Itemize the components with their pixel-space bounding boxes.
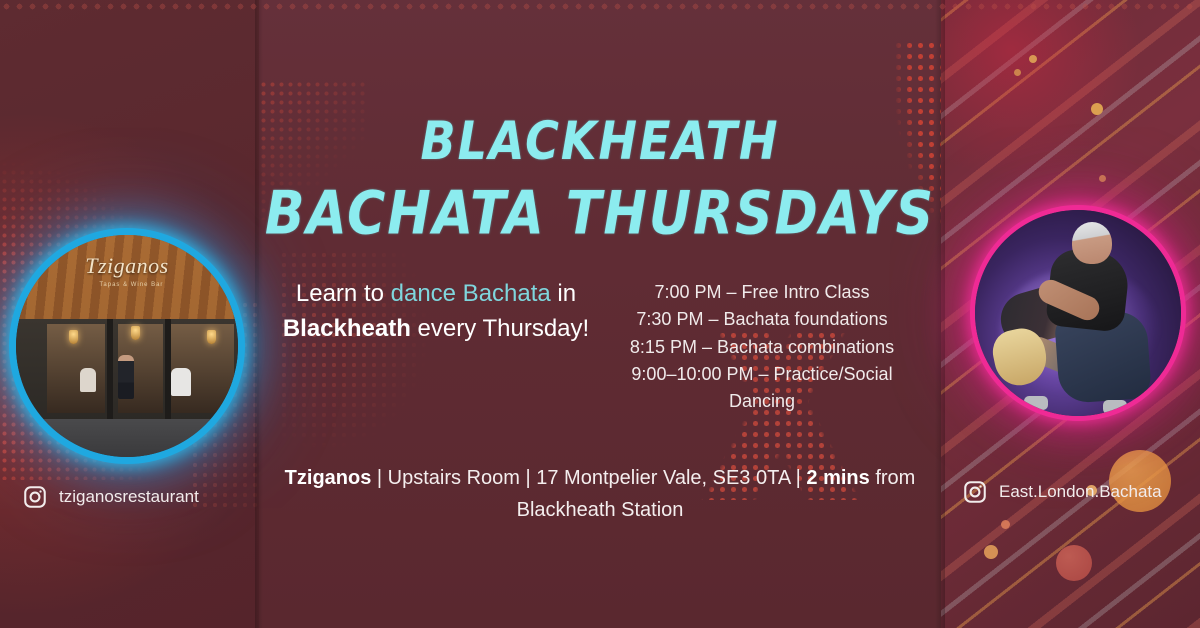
window-mullion xyxy=(107,319,113,421)
headline-line-2: Bachata Thursdays xyxy=(259,184,941,243)
bokeh-circle xyxy=(1056,545,1092,581)
instagram-handle-label: tziganosrestaurant xyxy=(59,487,199,507)
bokeh-circle xyxy=(1091,103,1103,115)
pink-glow-decoration xyxy=(941,0,1141,180)
instagram-handle-bachata[interactable]: East.London.Bachata xyxy=(962,479,1162,505)
headline-block: Blackheath Bachata Thursdays xyxy=(259,118,941,240)
venue-walk-time: 2 mins xyxy=(806,467,869,489)
bachata-dancers-photo xyxy=(975,210,1181,416)
restaurant-sign-subtext: Tapas & Wine Bar xyxy=(91,282,171,288)
photo-content xyxy=(975,210,1181,416)
tziganos-restaurant-exterior-photo: Tziganos Tapas & Wine Bar xyxy=(16,235,238,457)
top-edge-texture xyxy=(0,0,1200,10)
subheadline: Learn to dance Bachata in Blackheath eve… xyxy=(276,277,596,347)
venue-room: Upstairs Room xyxy=(388,467,520,489)
schedule-item: 9:00–10:00 PM – Practice/Social Dancing xyxy=(612,361,912,416)
instagram-icon xyxy=(22,484,48,510)
dancer-man-head xyxy=(1072,222,1112,264)
person-seated xyxy=(80,368,96,392)
dancer-shoe xyxy=(1024,396,1048,410)
photo-content: Tziganos Tapas & Wine Bar xyxy=(16,235,238,457)
instagram-icon xyxy=(962,479,988,505)
venue-details: Tziganos | Upstairs Room | 17 Montpelier… xyxy=(270,462,930,526)
subheadline-part-3: every Thursday! xyxy=(411,315,589,342)
venue-name: Tziganos xyxy=(285,467,372,489)
bokeh-circle xyxy=(1001,520,1010,529)
venue-separator: | xyxy=(790,467,806,489)
panel-divider-right xyxy=(935,0,945,628)
venue-separator: | xyxy=(371,467,387,489)
subheadline-bold: Blackheath xyxy=(283,315,411,342)
subheadline-part-2: in xyxy=(551,280,576,307)
instagram-handle-restaurant[interactable]: tziganosrestaurant xyxy=(22,484,199,510)
venue-address: 17 Montpelier Vale, SE3 0TA xyxy=(536,467,790,489)
bokeh-circle xyxy=(1029,55,1037,63)
promo-banner: Tziganos Tapas & Wine Bar xyxy=(0,0,1200,628)
person-seated xyxy=(171,368,191,396)
schedule-item: 7:30 PM – Bachata foundations xyxy=(612,306,912,333)
subheadline-part-1: Learn to xyxy=(296,280,391,307)
wall-lamp xyxy=(207,330,216,344)
storefront-base xyxy=(16,419,238,457)
bokeh-circle xyxy=(1099,175,1106,182)
person-standing xyxy=(118,355,134,399)
schedule-list: 7:00 PM – Free Intro Class 7:30 PM – Bac… xyxy=(612,279,912,416)
instagram-handle-label: East.London.Bachata xyxy=(999,482,1162,502)
bokeh-circle xyxy=(1014,69,1021,76)
window-mullion xyxy=(165,319,171,421)
bokeh-circle xyxy=(984,545,998,559)
wall-lamp xyxy=(131,326,140,340)
subheadline-accent: dance Bachata xyxy=(391,280,551,307)
dancer-shoe xyxy=(1103,400,1127,414)
venue-separator: | xyxy=(520,467,536,489)
panel-divider-left xyxy=(255,0,263,628)
headline-line-1: Blackheath xyxy=(259,115,941,167)
schedule-item: 8:15 PM – Bachata combinations xyxy=(612,334,912,361)
schedule-item: 7:00 PM – Free Intro Class xyxy=(612,279,912,306)
wall-lamp xyxy=(69,330,78,344)
restaurant-sign-text: Tziganos xyxy=(74,255,181,284)
